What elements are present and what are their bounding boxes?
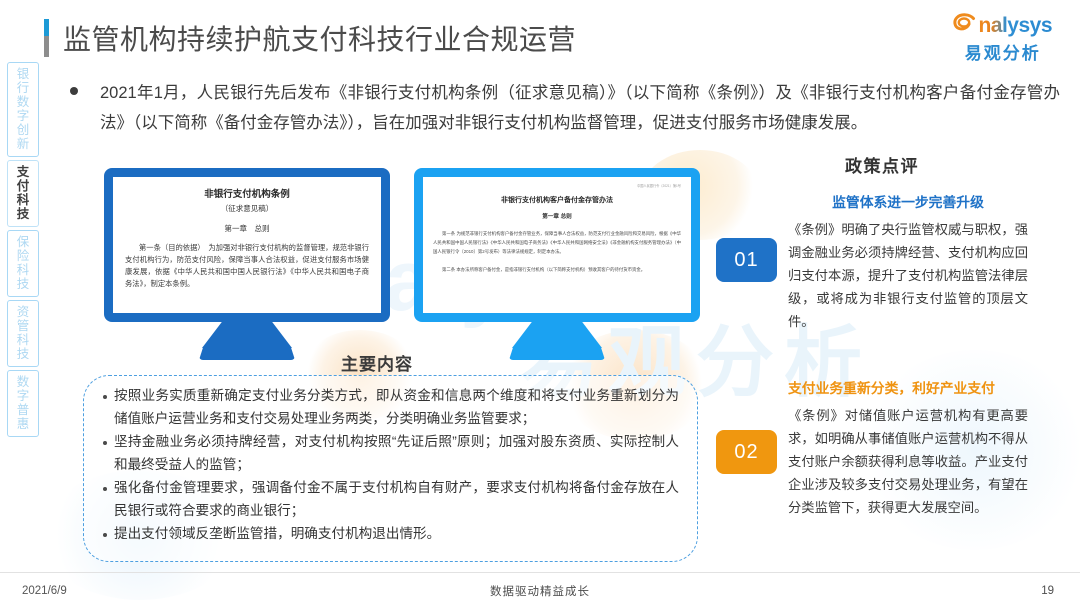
page-title-text: 监管机构持续护航支付科技行业合规运营 xyxy=(63,18,576,58)
bullet-dot-icon xyxy=(70,87,78,95)
logo-english-text: nalysys xyxy=(978,14,1052,38)
sidebar-item-digital-inclusive[interactable]: 数字普惠 xyxy=(7,370,39,437)
commentary-note-body: 《条例》对储值账户运营机构有更高要求，如明确从事储值账户运营机构不得从支付账户余… xyxy=(788,404,1028,519)
logo-chinese-text: 易观分析 xyxy=(953,39,1052,64)
commentary-note-02: 支付业务重新分类，利好产业支付 《条例》对储值账户运营机构有更高要求，如明确从事… xyxy=(788,378,1028,519)
sidebar-item-bank-digital[interactable]: 银行数字创新 xyxy=(7,62,39,157)
bullet-dot-icon xyxy=(103,441,107,445)
list-item: 按照业务实质重新确定支付业务分类方式，即从资金和信息两个维度和将支付业务重新划分… xyxy=(100,385,679,430)
list-item-text: 坚持金融业务必须持牌经营，对支付机构按照“先证后照”原则；加强对股东资质、实际控… xyxy=(114,431,679,476)
bullet-dot-icon xyxy=(103,395,107,399)
monitor-base xyxy=(199,348,295,360)
commentary-note-body: 《条例》明确了央行监管权威与职权，强调金融业务必须持牌经营、支付机构应回归支付本… xyxy=(788,218,1028,333)
footer: 2021/6/9 数据驱动精益成长 19 xyxy=(0,578,1080,604)
doc-chapter: 第一章 总则 xyxy=(433,212,681,220)
commentary-note-title: 监管体系进一步完善升级 xyxy=(788,192,1028,214)
doc-title: 非银行支付机构条例 xyxy=(125,186,369,200)
sidebar-item-label: 保险科技 xyxy=(17,235,30,291)
bullet-dot-icon xyxy=(103,533,107,537)
sidebar-item-label: 支付科技 xyxy=(17,165,30,221)
main-content-label: 主要内容 xyxy=(341,350,413,375)
title-accent-bar-icon xyxy=(44,19,49,57)
brand-logo: nalysys 易观分析 xyxy=(953,10,1052,64)
list-item-text: 强化备付金管理要求，强调备付金不属于支付机构自有财产，要求支付机构将备付金存放在… xyxy=(114,477,679,522)
footer-date: 2021/6/9 xyxy=(22,585,67,597)
doc-body: 第一条（目的依据） 为加强对非银行支付机构的监督管理，规范非银行支付机构行为，防… xyxy=(125,242,369,290)
sidebar-item-asset-mgmt-tech[interactable]: 资管科技 xyxy=(7,300,39,367)
page-title: 监管机构持续护航支付科技行业合规运营 xyxy=(44,18,576,58)
footer-page-number: 19 xyxy=(1041,585,1054,597)
list-item-text: 提出支付领域反垄断监管措，明确支付机构退出情形。 xyxy=(114,523,440,546)
doc-body-second: 第二条 本办法所称客户备付金，是指非银行支付机构（以下简称支付机构）预收其客户的… xyxy=(433,265,681,274)
main-content-box: 按照业务实质重新确定支付业务分类方式，即从资金和信息两个维度和将支付业务重新划分… xyxy=(83,375,698,562)
list-item: 强化备付金管理要求，强调备付金不属于支付机构自有财产，要求支付机构将备付金存放在… xyxy=(100,477,679,522)
commentary-heading: 政策点评 xyxy=(845,152,919,177)
intro-text: 2021年1月，人民银行先后发布《非银行支付机构条例（征求意见稿）》（以下简称《… xyxy=(100,78,1060,138)
intro-bullet: 2021年1月，人民银行先后发布《非银行支付机构条例（征求意见稿）》（以下简称《… xyxy=(70,78,1060,138)
monitor-screen: 中国人民银行令〔2021〕第1号 非银行支付机构客户备付金存管办法 第一章 总则… xyxy=(423,177,691,313)
bullet-dot-icon xyxy=(103,487,107,491)
monitor-base xyxy=(509,348,605,360)
commentary-note-01: 监管体系进一步完善升级 《条例》明确了央行监管权威与职权，强调金融业务必须持牌经… xyxy=(788,192,1028,333)
doc-stamp: 中国人民银行令〔2021〕第1号 xyxy=(433,184,681,189)
monitor-regulation-draft: 非银行支付机构条例 （征求意见稿） 第一章 总则 第一条（目的依据） 为加强对非… xyxy=(104,168,390,360)
monitor-screen: 非银行支付机构条例 （征求意见稿） 第一章 总则 第一条（目的依据） 为加强对非… xyxy=(113,177,381,313)
sidebar-item-label: 资管科技 xyxy=(17,305,30,361)
status-badge-02: 02 xyxy=(716,430,777,474)
sidebar-item-label: 数字普惠 xyxy=(17,375,30,431)
monitor-neck xyxy=(202,322,292,348)
list-item-text: 按照业务实质重新确定支付业务分类方式，即从资金和信息两个维度和将支付业务重新划分… xyxy=(114,385,679,430)
analysys-swirl-icon xyxy=(953,13,977,35)
commentary-note-title: 支付业务重新分类，利好产业支付 xyxy=(788,378,1028,400)
footer-divider xyxy=(0,572,1080,573)
monitor-frame: 中国人民银行令〔2021〕第1号 非银行支付机构客户备付金存管办法 第一章 总则… xyxy=(414,168,700,322)
monitor-neck xyxy=(512,322,602,348)
monitor-frame: 非银行支付机构条例 （征求意见稿） 第一章 总则 第一条（目的依据） 为加强对非… xyxy=(104,168,390,322)
footer-slogan: 数据驱动精益成长 xyxy=(0,583,1080,599)
slide-canvas: analysys 易观分析 监管机构持续护航支付科技行业合规运营 nalysys… xyxy=(0,0,1080,608)
monitor-reserve-fund-rules: 中国人民银行令〔2021〕第1号 非银行支付机构客户备付金存管办法 第一章 总则… xyxy=(414,168,700,360)
doc-subtitle: （征求意见稿） xyxy=(125,203,369,214)
list-item: 提出支付领域反垄断监管措，明确支付机构退出情形。 xyxy=(100,523,679,546)
list-item: 坚持金融业务必须持牌经营，对支付机构按照“先证后照”原则；加强对股东资质、实际控… xyxy=(100,431,679,476)
sidebar-item-insurance-tech[interactable]: 保险科技 xyxy=(7,230,39,297)
sidebar-item-payment-tech[interactable]: 支付科技 xyxy=(7,160,39,227)
doc-body: 第一条 为规范非银行支付机构客户备付金存管业务，保障当事人合法权益，防范支付行业… xyxy=(433,229,681,256)
doc-title: 非银行支付机构客户备付金存管办法 xyxy=(433,195,681,205)
sidebar-item-label: 银行数字创新 xyxy=(17,67,30,151)
doc-chapter: 第一章 总则 xyxy=(125,223,369,234)
status-badge-01: 01 xyxy=(716,238,777,282)
sidebar-nav[interactable]: 银行数字创新 支付科技 保险科技 资管科技 数字普惠 xyxy=(7,62,39,437)
